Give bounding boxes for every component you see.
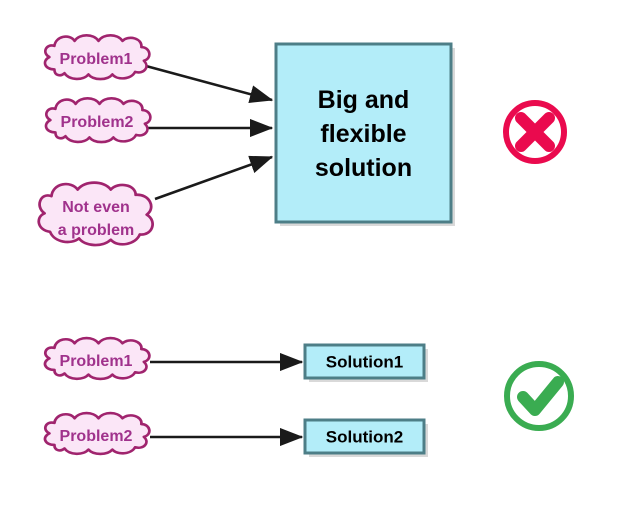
good-arrow-group: [150, 362, 302, 437]
cloud-problem1-top[interactable]: Problem1: [45, 35, 149, 79]
big-solution-line-3: solution: [315, 154, 412, 182]
arrow-problem1-to-big-solution: [146, 66, 272, 100]
bad-arrow-group: [146, 66, 272, 199]
cloud-not-even-a-problem-line-2: a problem: [58, 222, 134, 239]
cloud-problem1-top-label: Problem1: [60, 51, 133, 68]
cloud-problem1-bottom-label: Problem1: [60, 353, 133, 370]
big-solution-line-1: Big and: [318, 86, 410, 114]
cloud-not-even-a-problem-line-1: Not even: [62, 199, 130, 216]
solution1-label: Solution1: [326, 352, 403, 371]
big-solution-line-2: flexible: [320, 120, 406, 148]
cloud-problem2-top[interactable]: Problem2: [46, 98, 150, 142]
circle-check-icon: [507, 364, 571, 428]
circle-cross-icon: [506, 103, 564, 161]
solution2-label: Solution2: [326, 427, 403, 446]
arrow-notaproblem-to-big-solution: [155, 157, 272, 199]
diagram-canvas: Big and flexible solution Problem1 Probl…: [0, 0, 618, 503]
cloud-problem2-bottom[interactable]: Problem2: [45, 413, 149, 454]
cloud-problem1-bottom[interactable]: Problem1: [45, 338, 149, 379]
cloud-problem2-top-label: Problem2: [61, 114, 134, 131]
cloud-problem2-bottom-label: Problem2: [60, 428, 133, 445]
diagram-svg: Big and flexible solution Problem1 Probl…: [0, 0, 618, 503]
cloud-not-even-a-problem[interactable]: Not even a problem: [39, 183, 153, 245]
